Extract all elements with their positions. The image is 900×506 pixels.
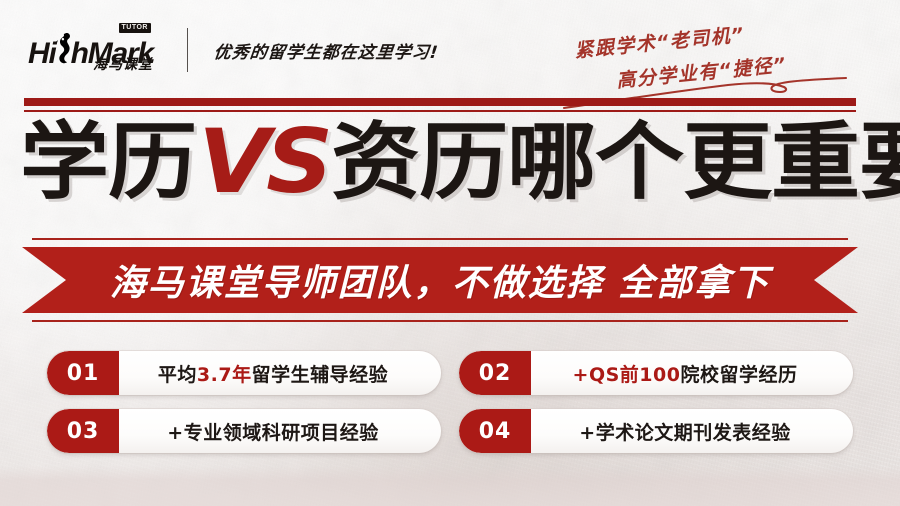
list-item[interactable]: 03 +专业领域科研项目经验 xyxy=(47,409,441,453)
feature-label: 平均3.7年留学生辅导经验 xyxy=(119,360,441,387)
headline-part-right: 资历哪个更重要 xyxy=(331,120,900,204)
headline-part-left: 学历 xyxy=(20,120,196,204)
poster-canvas: HihMark TUTOR 海马课堂 优秀的留学生都在这里学习! 紧跟学术“老司… xyxy=(0,0,900,506)
brand-logo[interactable]: HihMark TUTOR 海马课堂 xyxy=(28,24,153,76)
ribbon-body: 海马课堂导师团队，不做选择 全部拿下 xyxy=(22,247,858,313)
logo-tutor-badge: TUTOR xyxy=(119,23,151,33)
list-item[interactable]: 04 +学术论文期刊发表经验 xyxy=(459,409,853,453)
ribbon-text: 海马课堂导师团队，不做选择 全部拿下 xyxy=(22,247,858,313)
logo-chinese-name: 海马课堂 xyxy=(93,58,153,72)
list-item[interactable]: 02 +QS前100院校留学经历 xyxy=(459,351,853,395)
topright-slogan-group: 紧跟学术“老司机” 高分学业有“捷径” xyxy=(572,18,872,96)
ribbon-rule-top xyxy=(32,238,848,240)
headline-vs: VS xyxy=(196,118,331,206)
feature-label-post: +专业领域科研项目经验 xyxy=(167,422,378,444)
feature-label: +专业领域科研项目经验 xyxy=(119,418,441,445)
logo-wordmark: HihMark TUTOR 海马课堂 xyxy=(28,31,153,69)
feature-label-post: 留学生辅导经验 xyxy=(252,364,389,386)
feature-label: +学术论文期刊发表经验 xyxy=(531,418,853,445)
feature-label: +QS前100院校留学经历 xyxy=(531,360,853,387)
ribbon-rule-bottom xyxy=(32,320,848,322)
feature-label-highlight: 3.7年 xyxy=(197,364,252,386)
list-item[interactable]: 01 平均3.7年留学生辅导经验 xyxy=(47,351,441,395)
header-divider xyxy=(187,28,188,72)
feature-list: 01 平均3.7年留学生辅导经验 02 +QS前100院校留学经历 03 +专业… xyxy=(47,351,853,453)
feature-label-post: 院校留学经历 xyxy=(680,364,797,386)
header-bar: HihMark TUTOR 海马课堂 优秀的留学生都在这里学习! xyxy=(28,24,439,76)
feature-number-badge: 03 xyxy=(47,409,119,453)
feature-number-badge: 02 xyxy=(459,351,531,395)
feature-number-badge: 01 xyxy=(47,351,119,395)
feature-label-highlight: +QS前100 xyxy=(573,364,681,386)
header-tagline: 优秀的留学生都在这里学习! xyxy=(213,38,440,63)
headline-top-rules xyxy=(24,98,856,112)
rule-thick xyxy=(24,98,856,106)
feature-number-badge: 04 xyxy=(459,409,531,453)
bottom-shading-band xyxy=(0,466,900,506)
logo-wordmark-prefix: Hi xyxy=(28,37,56,70)
ribbon-banner: 海马课堂导师团队，不做选择 全部拿下 xyxy=(22,238,858,322)
feature-label-post: +学术论文期刊发表经验 xyxy=(579,422,790,444)
seahorse-icon xyxy=(56,32,71,70)
feature-label-pre: 平均 xyxy=(158,364,197,386)
page-title: 学历 VS 资历哪个更重要 xyxy=(20,112,900,212)
